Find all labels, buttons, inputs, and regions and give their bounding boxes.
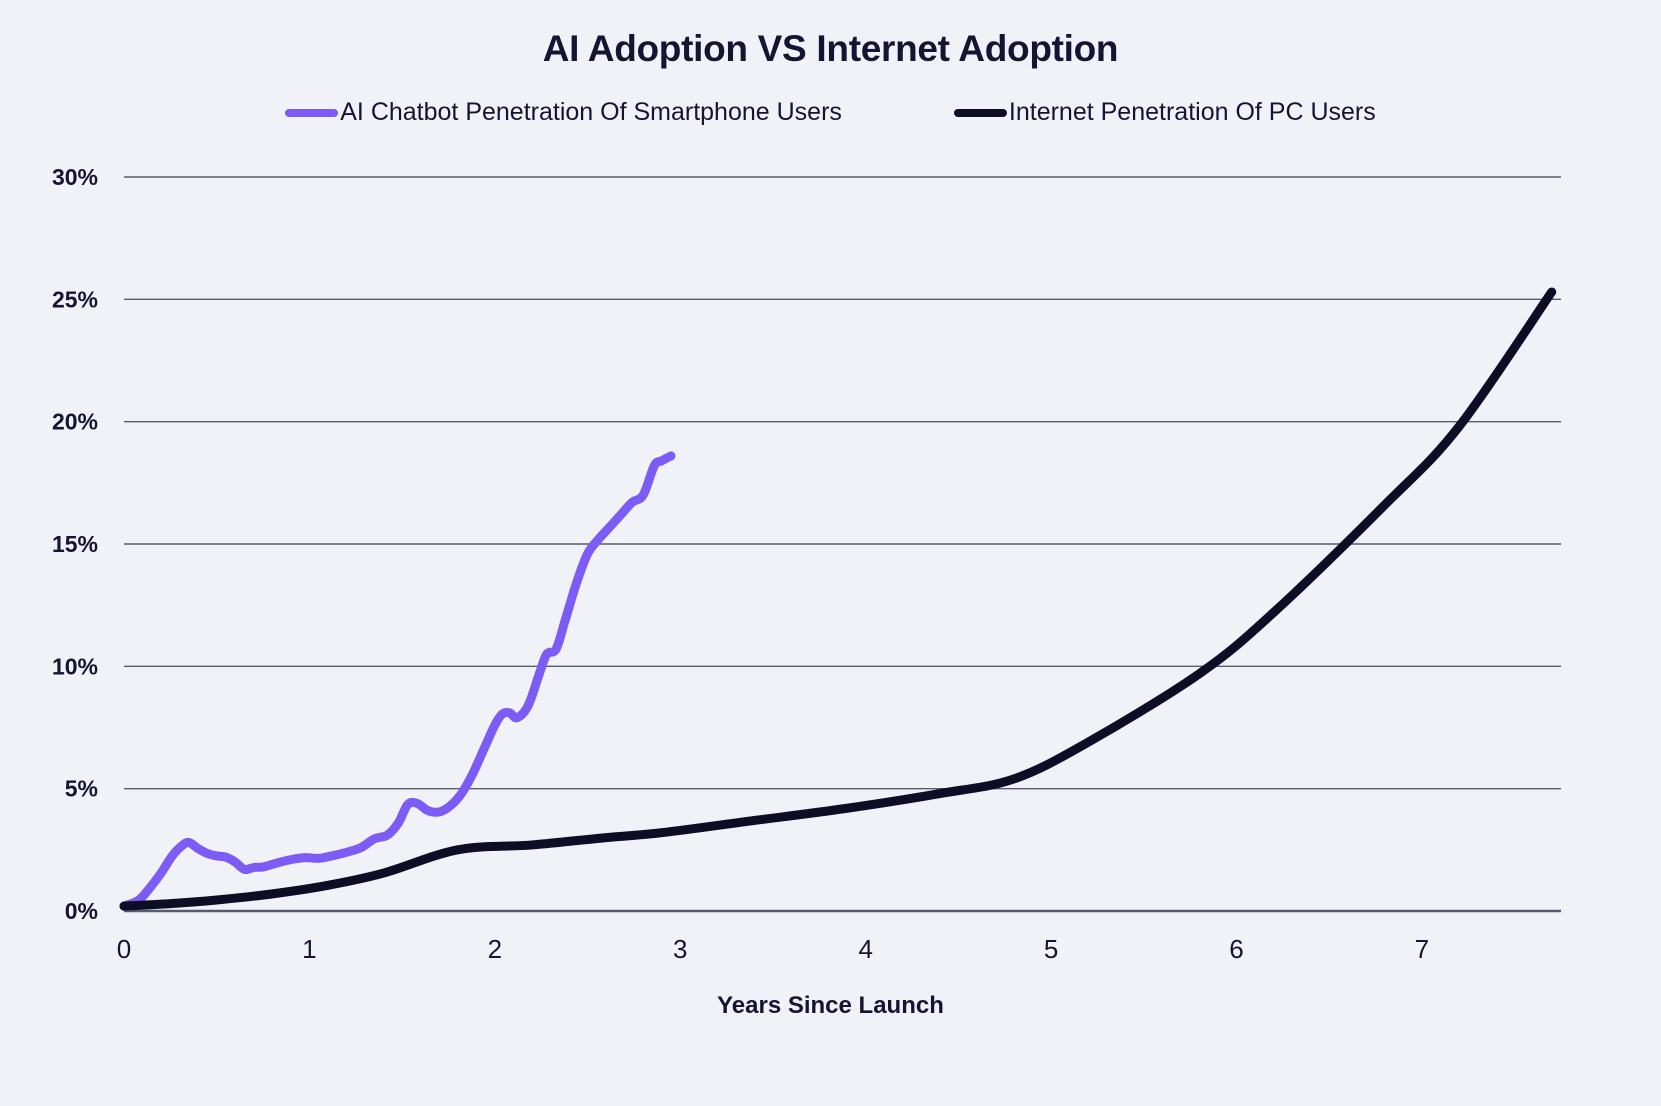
plot-area: 0%5%10%15%20%25%30% 01234567 — [0, 0, 1661, 1106]
x-axis-tick-label: 5 — [1044, 934, 1058, 964]
x-axis-tick-labels: 01234567 — [117, 934, 1429, 964]
x-axis-tick-label: 0 — [117, 934, 131, 964]
x-axis-tick-label: 2 — [488, 934, 502, 964]
y-axis-tick-labels: 0%5%10%15%20%25%30% — [52, 164, 98, 924]
x-axis-tick-label: 3 — [673, 934, 687, 964]
data-line-series — [124, 292, 1552, 906]
x-axis-tick-label: 1 — [302, 934, 316, 964]
y-axis-tick-label: 30% — [52, 164, 98, 190]
chart-container: AI Adoption VS Internet Adoption AI Chat… — [0, 0, 1661, 1106]
y-axis-tick-label: 15% — [52, 531, 98, 557]
data-series-group — [124, 292, 1552, 906]
x-axis-tick-label: 4 — [858, 934, 872, 964]
y-axis-tick-label: 25% — [52, 286, 98, 312]
x-axis-title: Years Since Launch — [0, 992, 1661, 1020]
x-axis-tick-label: 6 — [1229, 934, 1243, 964]
y-axis-tick-label: 0% — [65, 898, 98, 924]
x-axis-tick-label: 7 — [1415, 934, 1429, 964]
y-axis-tick-label: 10% — [52, 653, 98, 679]
y-axis-tick-label: 5% — [65, 776, 98, 802]
y-axis-tick-label: 20% — [52, 409, 98, 435]
